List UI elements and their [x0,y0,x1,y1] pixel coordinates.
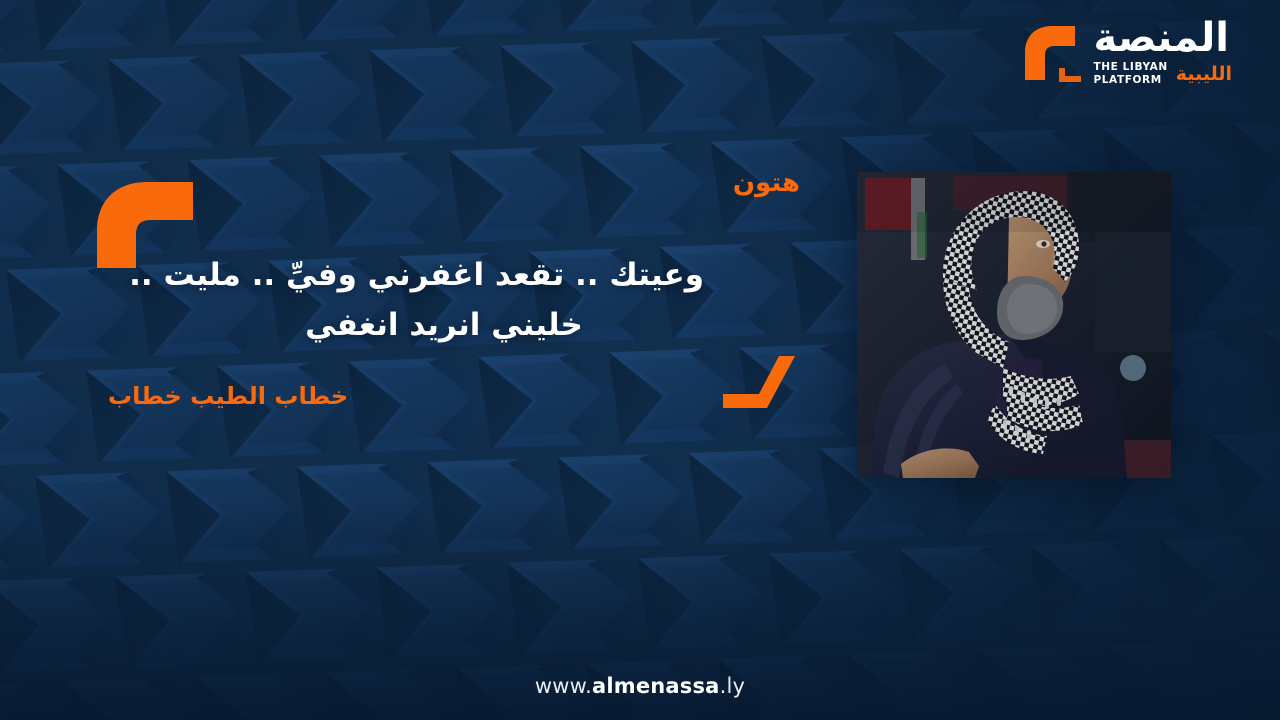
brand-logo[interactable]: المنصة الليبية THE LIBYAN PLATFORM [1023,18,1232,87]
brand-logo-arabic-row: المنصة [1093,18,1229,58]
quote-line-1: وعيتك .. تقعد اغفرني وفيِّ .. مليت .. [184,250,704,300]
quote-card-canvas: المنصة الليبية THE LIBYAN PLATFORM [0,0,1280,720]
speaker-label: هتون [733,168,800,198]
brand-logo-arabic-sub: الليبية [1176,65,1232,84]
brand-logo-wordmark: المنصة الليبية THE LIBYAN PLATFORM [1093,18,1232,87]
footer-url-name: almenassa [592,674,720,698]
speaker-portrait-photo [857,172,1171,478]
brand-logo-english: THE LIBYAN PLATFORM [1093,61,1167,87]
quote-close-icon [717,356,797,411]
brand-logo-arabic-main: المنصة [1093,18,1229,58]
footer-website-url[interactable]: www.almenassa.ly [0,674,1280,698]
brand-logo-english-line1: THE LIBYAN [1093,61,1167,74]
brand-logo-english-line2: PLATFORM [1093,74,1167,87]
brand-logo-subtitle-row: الليبية THE LIBYAN PLATFORM [1093,61,1232,87]
quote-line-2: خليني انريد انغفي [184,300,704,350]
almenassa-hook-mark-icon [1023,22,1083,84]
footer-url-tld: .ly [720,674,746,698]
footer-url-prefix: www. [535,674,592,698]
quote-attribution: خطاب الطيب خطاب [108,382,348,410]
quote-text: وعيتك .. تقعد اغفرني وفيِّ .. مليت .. خل… [184,250,704,350]
